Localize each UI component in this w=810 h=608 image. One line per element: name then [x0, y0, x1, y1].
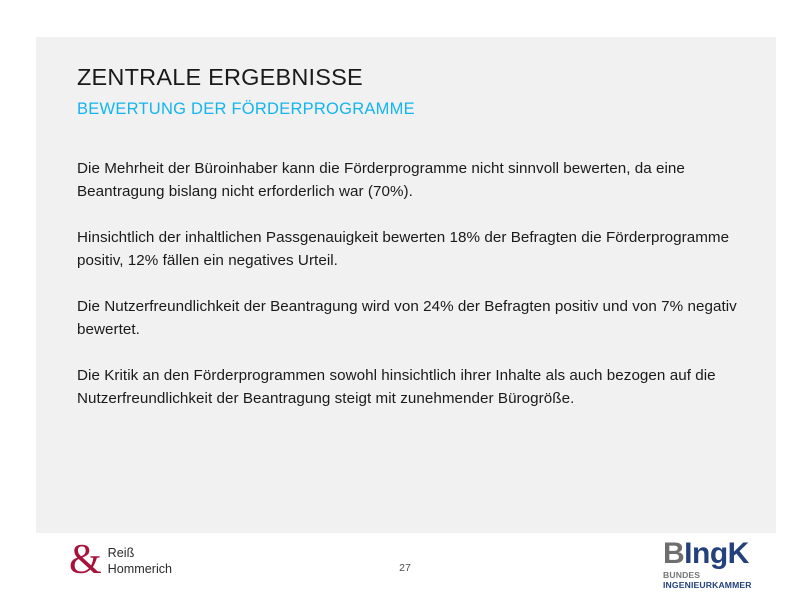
slide-footer: & Reiß Hommerich 27 BIngK BUNDES INGENIE…	[0, 533, 810, 608]
paragraph-1: Die Mehrheit der Büroinhaber kann die Fö…	[77, 157, 749, 203]
bingk-subline-ingenieurkammer: INGENIEURKAMMER	[663, 580, 753, 590]
bingk-subline-bundes: BUNDES	[663, 570, 753, 580]
page-subtitle: BEWERTUNG DER FÖRDERPROGRAMME	[77, 100, 415, 119]
logo-line-reiss: Reiß	[108, 545, 172, 561]
paragraph-2: Hinsichtlich der inhaltlichen Passgenaui…	[77, 226, 749, 272]
slide-content-panel: ZENTRALE ERGEBNISSE BEWERTUNG DER FÖRDER…	[36, 37, 776, 533]
bingk-logo: BIngK BUNDES INGENIEURKAMMER	[663, 539, 753, 590]
bingk-letter-b: B	[663, 537, 684, 570]
paragraph-4: Die Kritik an den Förderprogrammen sowoh…	[77, 364, 749, 410]
body-text-block: Die Mehrheit der Büroinhaber kann die Fö…	[77, 157, 749, 410]
paragraph-3: Die Nutzerfreundlichkeit der Beantragung…	[77, 295, 749, 341]
page-title: ZENTRALE ERGEBNISSE	[77, 64, 363, 91]
bingk-letters-ingk: IngK	[684, 537, 749, 570]
presentation-slide: ZENTRALE ERGEBNISSE BEWERTUNG DER FÖRDER…	[0, 0, 810, 608]
bingk-wordmark: BIngK	[663, 539, 753, 569]
